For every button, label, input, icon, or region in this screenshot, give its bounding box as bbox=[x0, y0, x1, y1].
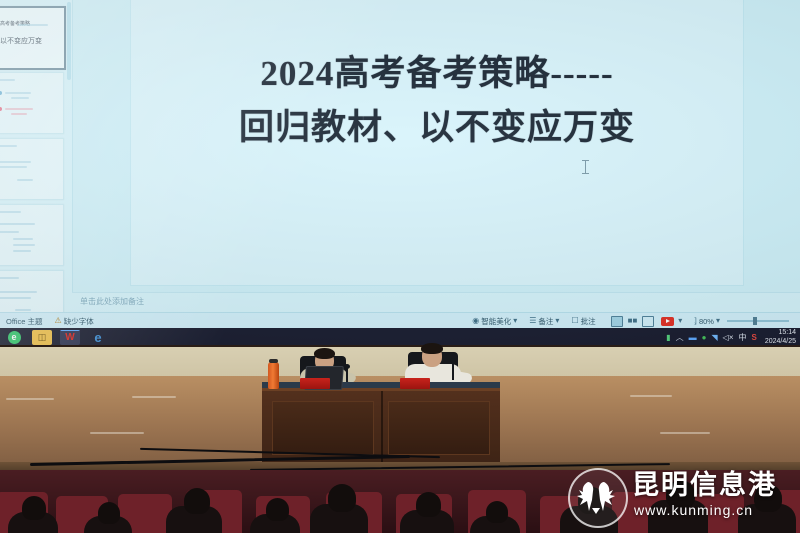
chevron-down-icon[interactable]: ▾ bbox=[716, 317, 720, 325]
slide-thumbnail-pane[interactable]: 高考备考策略 以不变应万变 bbox=[0, 0, 73, 312]
smart-beautify-button[interactable]: ◉ 智能美化 ▾ bbox=[466, 316, 523, 327]
slide-sorter-icon[interactable]: ■■ bbox=[628, 317, 638, 325]
audience-head bbox=[98, 502, 120, 524]
audience-head bbox=[416, 492, 441, 517]
zoom-slider[interactable] bbox=[727, 320, 789, 322]
usb-device-icon[interactable]: ▮ bbox=[666, 334, 670, 342]
network-icon[interactable]: ▬ bbox=[689, 334, 697, 342]
magic-wand-icon: ◉ bbox=[472, 317, 479, 325]
missing-font-label: 缺少字体 bbox=[64, 316, 94, 327]
slide-title-line-1: 2024高考备考策略----- bbox=[131, 47, 743, 101]
smart-beautify-label: 智能美化 bbox=[481, 316, 511, 327]
comment-label: 批注 bbox=[581, 316, 596, 327]
status-bar-right-group: ◉ 智能美化 ▾ ☰ 备注 ▾ ☐ 批注 ■■ bbox=[466, 316, 800, 327]
wifi-icon[interactable]: ◥ bbox=[712, 334, 718, 342]
list-icon: ☰ bbox=[529, 317, 536, 325]
watermark-site-name: 昆明信息港 bbox=[632, 470, 777, 500]
normal-view-icon[interactable] bbox=[611, 316, 623, 327]
microphone-right-head bbox=[450, 358, 456, 363]
missing-font-warning[interactable]: ⚠ 缺少字体 bbox=[49, 316, 100, 327]
text-cursor bbox=[585, 160, 586, 174]
show-hidden-icons-icon[interactable]: ︿ bbox=[676, 334, 684, 342]
volume-mute-icon[interactable]: ◁× bbox=[723, 334, 734, 342]
windows-taskbar[interactable]: e ◫ W e ▮ ︿ ▬ ● ◥ ◁× 中 S 15:14 2024/4/25 bbox=[0, 328, 800, 345]
audience-head bbox=[266, 498, 289, 521]
nameplate-right bbox=[400, 378, 430, 389]
notes-toggle-button[interactable]: ☰ 备注 ▾ bbox=[523, 316, 565, 327]
reading-view-icon[interactable] bbox=[642, 316, 654, 327]
thumbnail-slide-4[interactable] bbox=[0, 204, 64, 266]
chevron-down-icon: ▾ bbox=[513, 317, 517, 325]
table-panel-left bbox=[272, 401, 374, 455]
ime-chinese-icon[interactable]: 中 bbox=[739, 334, 747, 342]
view-switcher[interactable]: ■■ ▾ bbox=[602, 316, 689, 327]
twin-rooster-circle-logo bbox=[568, 468, 624, 524]
warning-triangle-icon: ⚠ bbox=[55, 317, 62, 325]
slide-title-line-2: 回归教材、以不变应万变 bbox=[131, 101, 743, 155]
audience-head bbox=[184, 488, 210, 514]
comment-button[interactable]: ☐ 批注 bbox=[565, 316, 601, 327]
stage-back-wall bbox=[0, 347, 800, 376]
zoom-level-label[interactable]: 80% bbox=[699, 317, 714, 326]
slide-editing-area[interactable]: 2024高考备考策略----- 回归教材、以不变应万变 bbox=[72, 0, 800, 290]
projection-screen: 高考备考策略 以不变应万变 bbox=[0, 0, 800, 345]
current-slide[interactable]: 2024高考备考策略----- 回归教材、以不变应万变 bbox=[130, 0, 744, 286]
wps-office-icon[interactable]: W bbox=[60, 330, 80, 345]
system-tray[interactable]: ▮ ︿ ▬ ● ◥ ◁× 中 S 15:14 2024/4/25 bbox=[666, 329, 800, 345]
watermark: 昆明信息港 www.kunming.cn bbox=[556, 462, 800, 530]
powerpoint-status-bar: Office 主题 ⚠ 缺少字体 ◉ 智能美化 ▾ ☰ 备注 ▾ ☐ bbox=[0, 312, 800, 329]
slide-title-text[interactable]: 2024高考备考策略----- 回归教材、以不变应万变 bbox=[131, 47, 743, 155]
microphone-right bbox=[452, 362, 454, 380]
theme-name: Office 主题 bbox=[6, 316, 43, 327]
360-browser-icon[interactable]: e bbox=[4, 330, 24, 345]
notes-pane[interactable]: 单击此处添加备注 bbox=[72, 292, 800, 313]
security-shield-icon[interactable]: ● bbox=[702, 334, 707, 342]
table-panel-right bbox=[388, 401, 490, 455]
file-explorer-icon[interactable]: ◫ bbox=[32, 330, 52, 345]
taskbar-clock[interactable]: 15:14 2024/4/25 bbox=[762, 329, 796, 345]
sogou-input-icon[interactable]: S bbox=[752, 334, 757, 342]
thermos-bottle bbox=[268, 362, 279, 389]
presenter-right-hair bbox=[421, 343, 443, 354]
microphone-left-head bbox=[344, 364, 350, 369]
audience-head bbox=[22, 496, 46, 520]
theme-label[interactable]: Office 主题 bbox=[0, 316, 49, 327]
notes-toggle-label: 备注 bbox=[538, 316, 553, 327]
fit-to-window-icon[interactable]: ⦎ bbox=[694, 317, 697, 325]
thumbnail-slide-1[interactable]: 高考备考策略 以不变应万变 bbox=[0, 6, 66, 70]
clock-date: 2024/4/25 bbox=[765, 338, 796, 346]
presenter-left-hair bbox=[314, 348, 335, 359]
microphone-left bbox=[346, 368, 348, 382]
nameplate-left bbox=[300, 378, 330, 389]
thumbnail-slide-2[interactable] bbox=[0, 72, 64, 134]
audience-head bbox=[486, 501, 508, 523]
comment-icon: ☐ bbox=[571, 317, 578, 325]
audience-head bbox=[328, 484, 356, 512]
edge-browser-icon[interactable]: e bbox=[88, 330, 108, 345]
play-slideshow-icon[interactable] bbox=[661, 317, 674, 326]
thumbnail-slide-3[interactable] bbox=[0, 138, 64, 200]
notes-placeholder-text: 单击此处添加备注 bbox=[80, 296, 144, 307]
conference-hall-photo: 高考备考策略 以不变应万变 bbox=[0, 0, 800, 533]
zoom-controls[interactable]: ⦎ 80% ▾ bbox=[688, 317, 800, 326]
watermark-url: www.kunming.cn bbox=[634, 502, 753, 518]
chevron-down-icon: ▾ bbox=[555, 317, 559, 325]
chevron-down-icon[interactable]: ▾ bbox=[678, 317, 682, 325]
thumbnail-scrollbar[interactable] bbox=[67, 2, 71, 80]
clock-time: 15:14 bbox=[765, 329, 796, 338]
